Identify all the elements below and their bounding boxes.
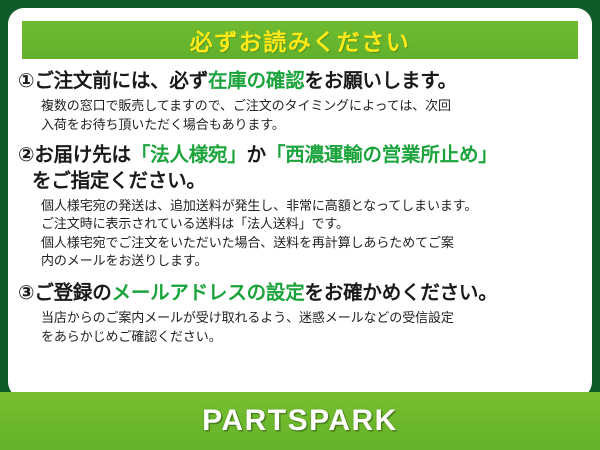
item-1-number: ①	[18, 70, 34, 92]
item-3-heading-prefix: ご登録の	[34, 282, 111, 304]
item-3-heading-suffix: をお確かめください。	[305, 282, 498, 304]
item-2-subtext-line-4: 内のメールをお送りします。	[41, 252, 582, 270]
notice-title: 必ずお読みください	[190, 23, 411, 57]
item-2-heading-line-2: をご指定ください。	[18, 169, 582, 194]
footer-brand-band: PARTSPARK	[0, 392, 600, 450]
notice-banner: 必ずお読みください ①ご注文前には、必ず在庫の確認をお願いします。 複数の窓口で…	[0, 0, 600, 450]
item-3-subtext-line-1: 当店からのご案内メールが受け取れるよう、迷惑メールなどの受信設定	[41, 309, 582, 327]
item-2-heading-middle: か	[247, 144, 266, 166]
item-2-subtext-line-3: 個人様宅宛でご注文をいただいた場合、送料を再計算しあらためてご案	[41, 234, 582, 252]
item-1-heading-highlight: 在庫の確認	[208, 70, 305, 92]
notice-item-2: ②お届け先は「法人様宛」か「西濃運輸の営業所止め」 をご指定ください。 個人様宅…	[18, 143, 582, 271]
item-3-heading-highlight: メールアドレスの設定	[112, 282, 305, 304]
item-2-subtext: 個人様宅宛の発送は、追加送料が発生し、非常に高額となってしまいます。 ご注文時に…	[18, 197, 582, 271]
item-2-heading: ②お届け先は「法人様宛」か「西濃運輸の営業所止め」	[18, 143, 582, 168]
item-1-subtext-line-2: 入荷をお待ち頂いただく場合もあります。	[41, 116, 582, 134]
item-2-heading-highlight-1: 「法人様宛」	[131, 144, 247, 166]
item-3-heading: ③ご登録のメールアドレスの設定をお確かめください。	[18, 281, 582, 306]
item-2-heading-prefix: お届け先は	[34, 144, 131, 166]
notice-title-band: 必ずお読みください	[22, 21, 578, 59]
notice-item-3: ③ご登録のメールアドレスの設定をお確かめください。 当店からのご案内メールが受け…	[18, 281, 582, 346]
item-3-subtext-line-2: をあらかじめご確認ください。	[41, 328, 582, 346]
item-1-heading-prefix: ご注文前には、必ず	[34, 70, 208, 92]
item-2-subtext-line-2: ご注文時に表示されている送料は「法人送料」です。	[41, 215, 582, 233]
item-1-heading-suffix: をお願いします。	[305, 70, 457, 92]
notice-item-1: ①ご注文前には、必ず在庫の確認をお願いします。 複数の窓口で販売してますので、ご…	[18, 69, 582, 134]
item-2-number: ②	[18, 144, 34, 166]
item-1-subtext-line-1: 複数の窓口で販売してますので、ご注文のタイミングによっては、次回	[41, 97, 582, 115]
item-3-subtext: 当店からのご案内メールが受け取れるよう、迷惑メールなどの受信設定 をあらかじめご…	[18, 309, 582, 346]
item-1-subtext: 複数の窓口で販売してますので、ご注文のタイミングによっては、次回 入荷をお待ち頂…	[18, 97, 582, 134]
item-2-heading-highlight-2: 「西濃運輸の営業所止め」	[266, 144, 498, 166]
item-3-number: ③	[18, 282, 34, 304]
item-2-subtext-line-1: 個人様宅宛の発送は、追加送料が発生し、非常に高額となってしまいます。	[41, 197, 582, 215]
notice-card: 必ずお読みください ①ご注文前には、必ず在庫の確認をお願いします。 複数の窓口で…	[8, 8, 592, 398]
brand-logo-partspark: PARTSPARK	[202, 404, 398, 438]
item-1-heading: ①ご注文前には、必ず在庫の確認をお願いします。	[18, 69, 582, 94]
notice-body: ①ご注文前には、必ず在庫の確認をお願いします。 複数の窓口で販売してますので、ご…	[8, 59, 592, 346]
